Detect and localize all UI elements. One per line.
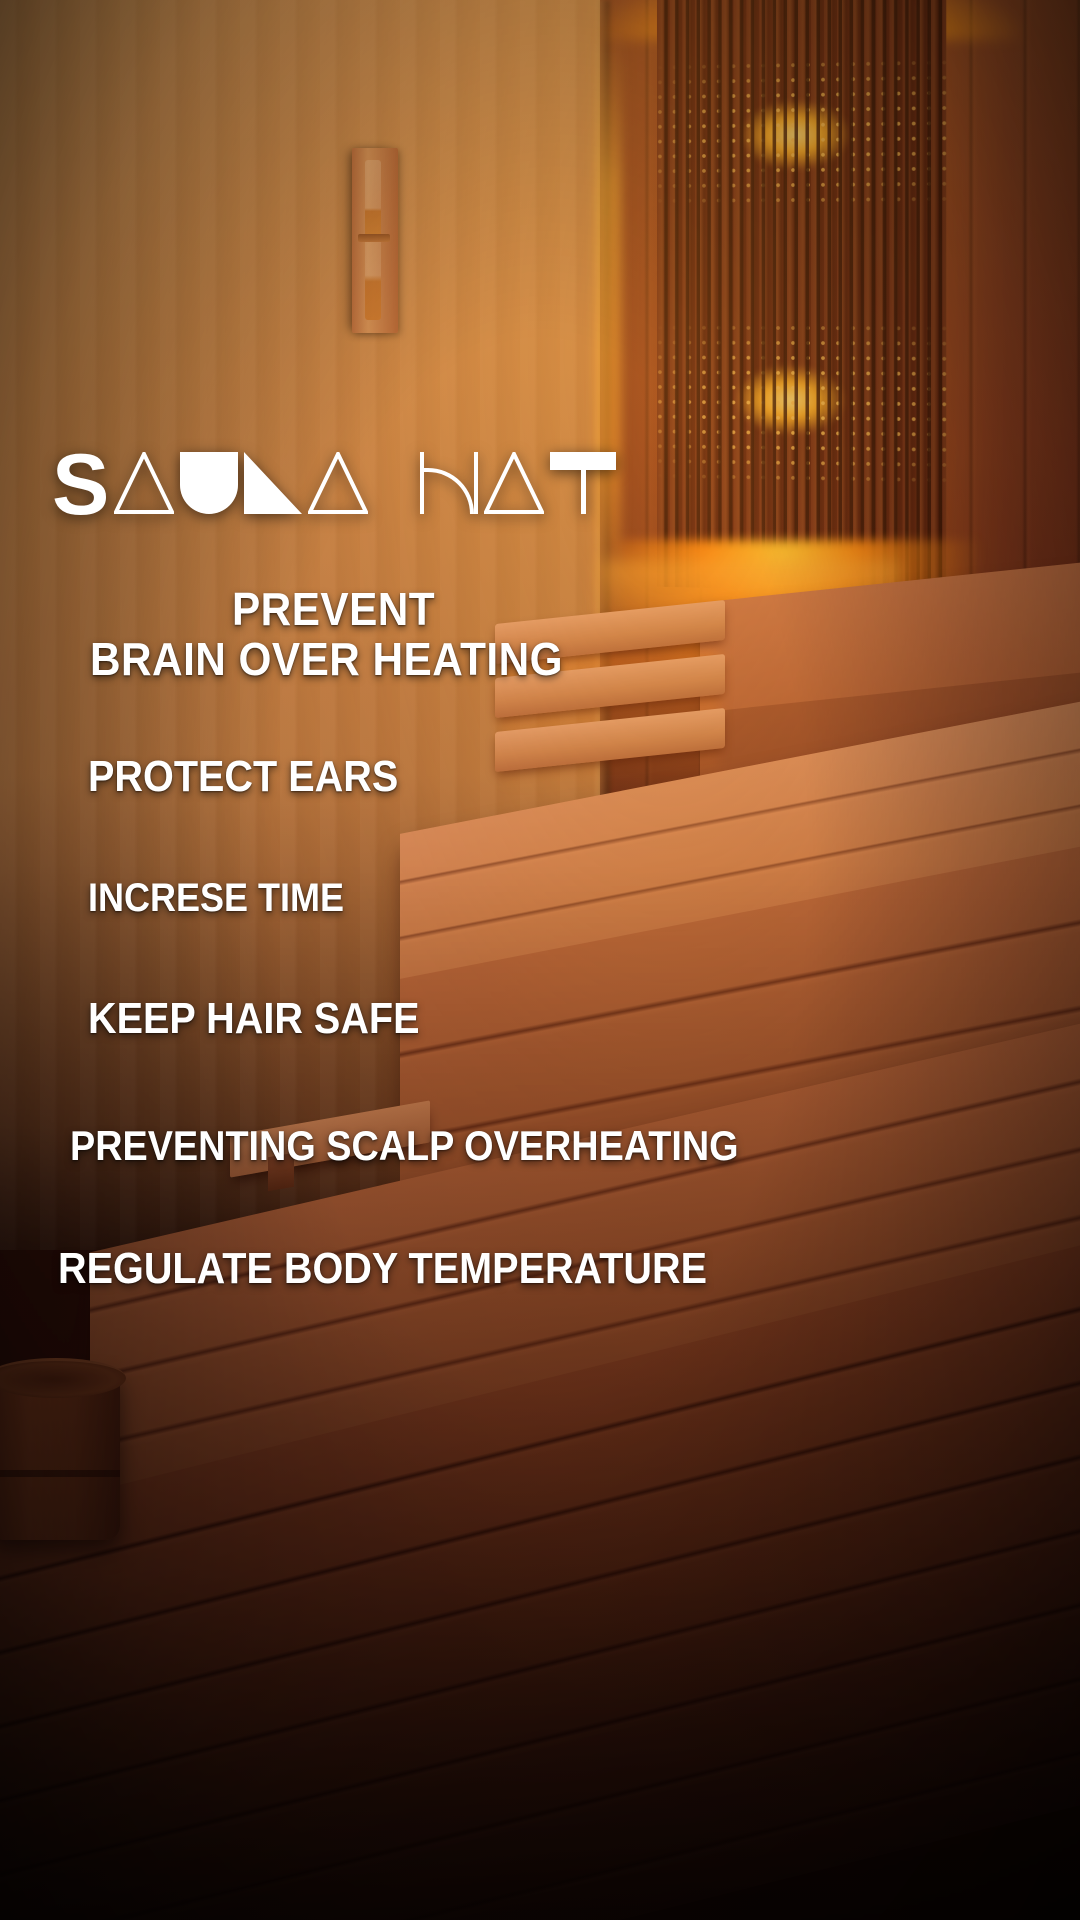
brand-logo [54,452,622,514]
headline-line-2: BRAIN OVER HEATING [90,632,1001,686]
logo-letter-s [54,452,108,514]
logo-letter-h [420,452,478,514]
logo-letter-t [550,452,616,514]
logo-h-right-stem [474,452,478,514]
benefit-item-3: KEEP HAIR SAFE [88,994,420,1044]
benefit-item-2: INCRESE TIME [88,876,344,921]
headline-line-1: PREVENT [232,582,1012,636]
logo-t-stem [581,452,586,514]
logo-h-arc [420,468,474,514]
benefit-item-1: PROTECT EARS [88,752,398,802]
logo-word-sauna [54,452,374,514]
logo-letter-u [180,452,238,514]
text-overlay: PREVENT BRAIN OVER HEATING PROTECT EARS … [0,0,1080,1920]
logo-letter-a3 [484,452,544,514]
logo-letter-a [114,452,174,514]
benefit-item-4: PREVENTING SCALP OVERHEATING [70,1122,739,1170]
logo-letter-n [244,452,302,514]
logo-word-hat [420,452,622,514]
logo-letter-a2 [308,452,368,514]
benefit-item-5: REGULATE BODY TEMPERATURE [58,1244,707,1294]
